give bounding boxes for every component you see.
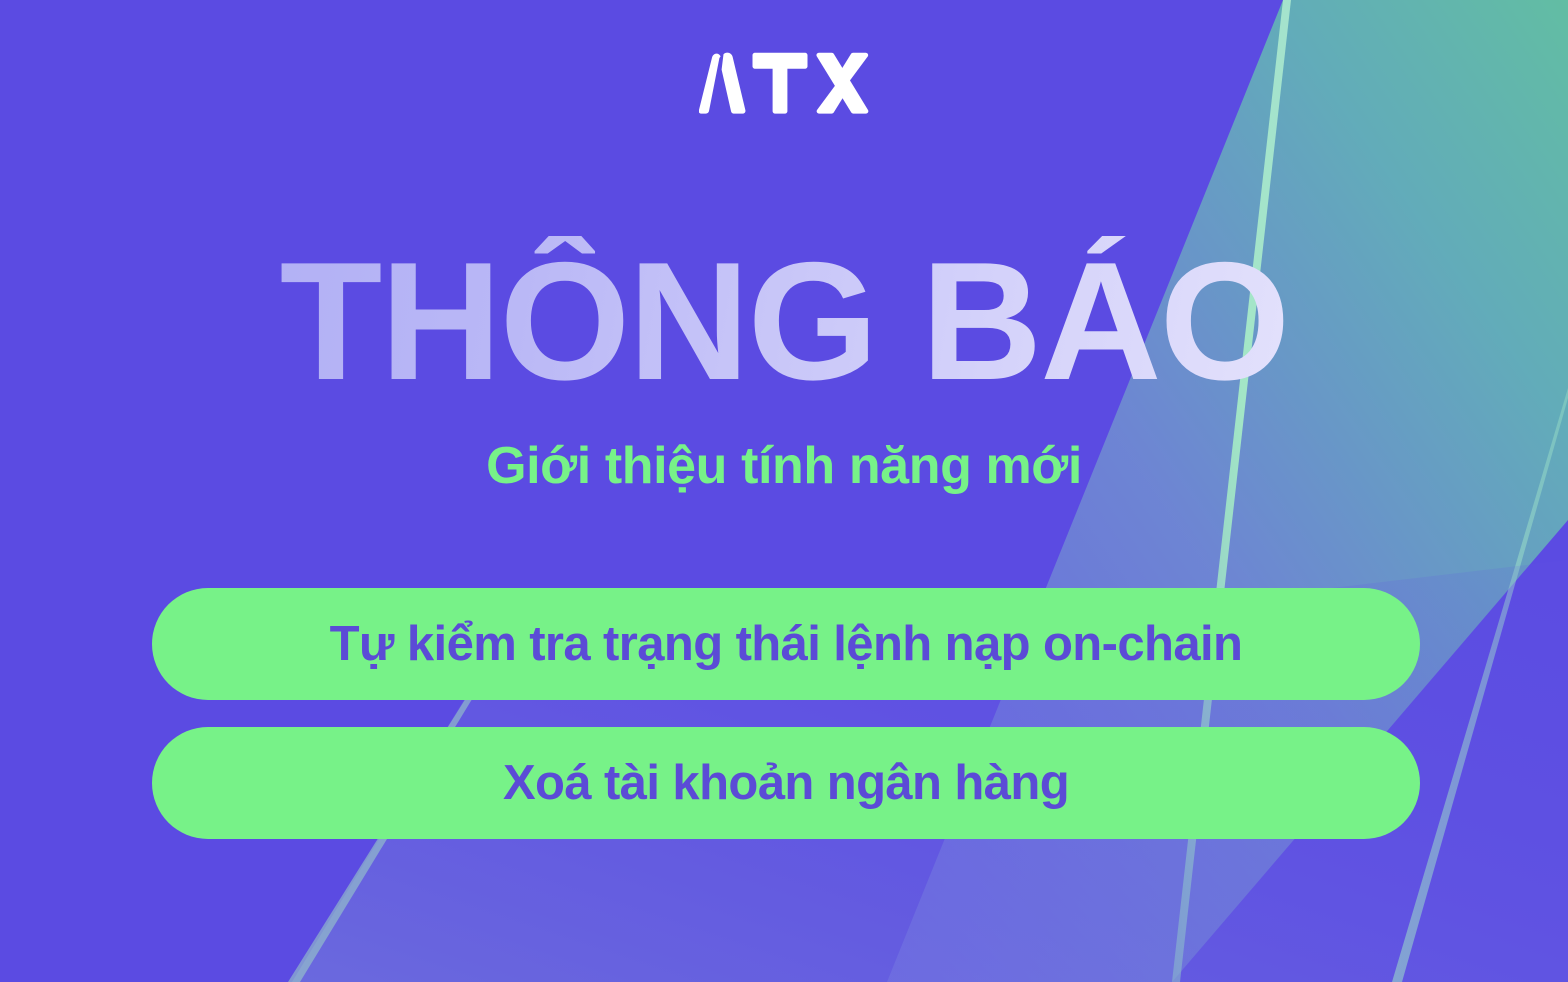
feature-pill-2-label: Xoá tài khoản ngân hàng — [503, 759, 1069, 808]
feature-pill-1[interactable]: Tự kiểm tra trạng thái lệnh nạp on-chain — [152, 588, 1420, 700]
logo-container — [0, 52, 1568, 114]
feature-pill-2[interactable]: Xoá tài khoản ngân hàng — [152, 727, 1420, 839]
atx-logo — [699, 52, 869, 114]
subtitle: Giới thiệu tính năng mới — [0, 436, 1568, 496]
feature-list: Tự kiểm tra trạng thái lệnh nạp on-chain… — [152, 588, 1420, 839]
page-title: THÔNG BÁO — [0, 236, 1568, 407]
feature-pill-1-label: Tự kiểm tra trạng thái lệnh nạp on-chain — [330, 620, 1243, 669]
announcement-banner: THÔNG BÁO Giới thiệu tính năng mới Tự ki… — [0, 0, 1568, 982]
